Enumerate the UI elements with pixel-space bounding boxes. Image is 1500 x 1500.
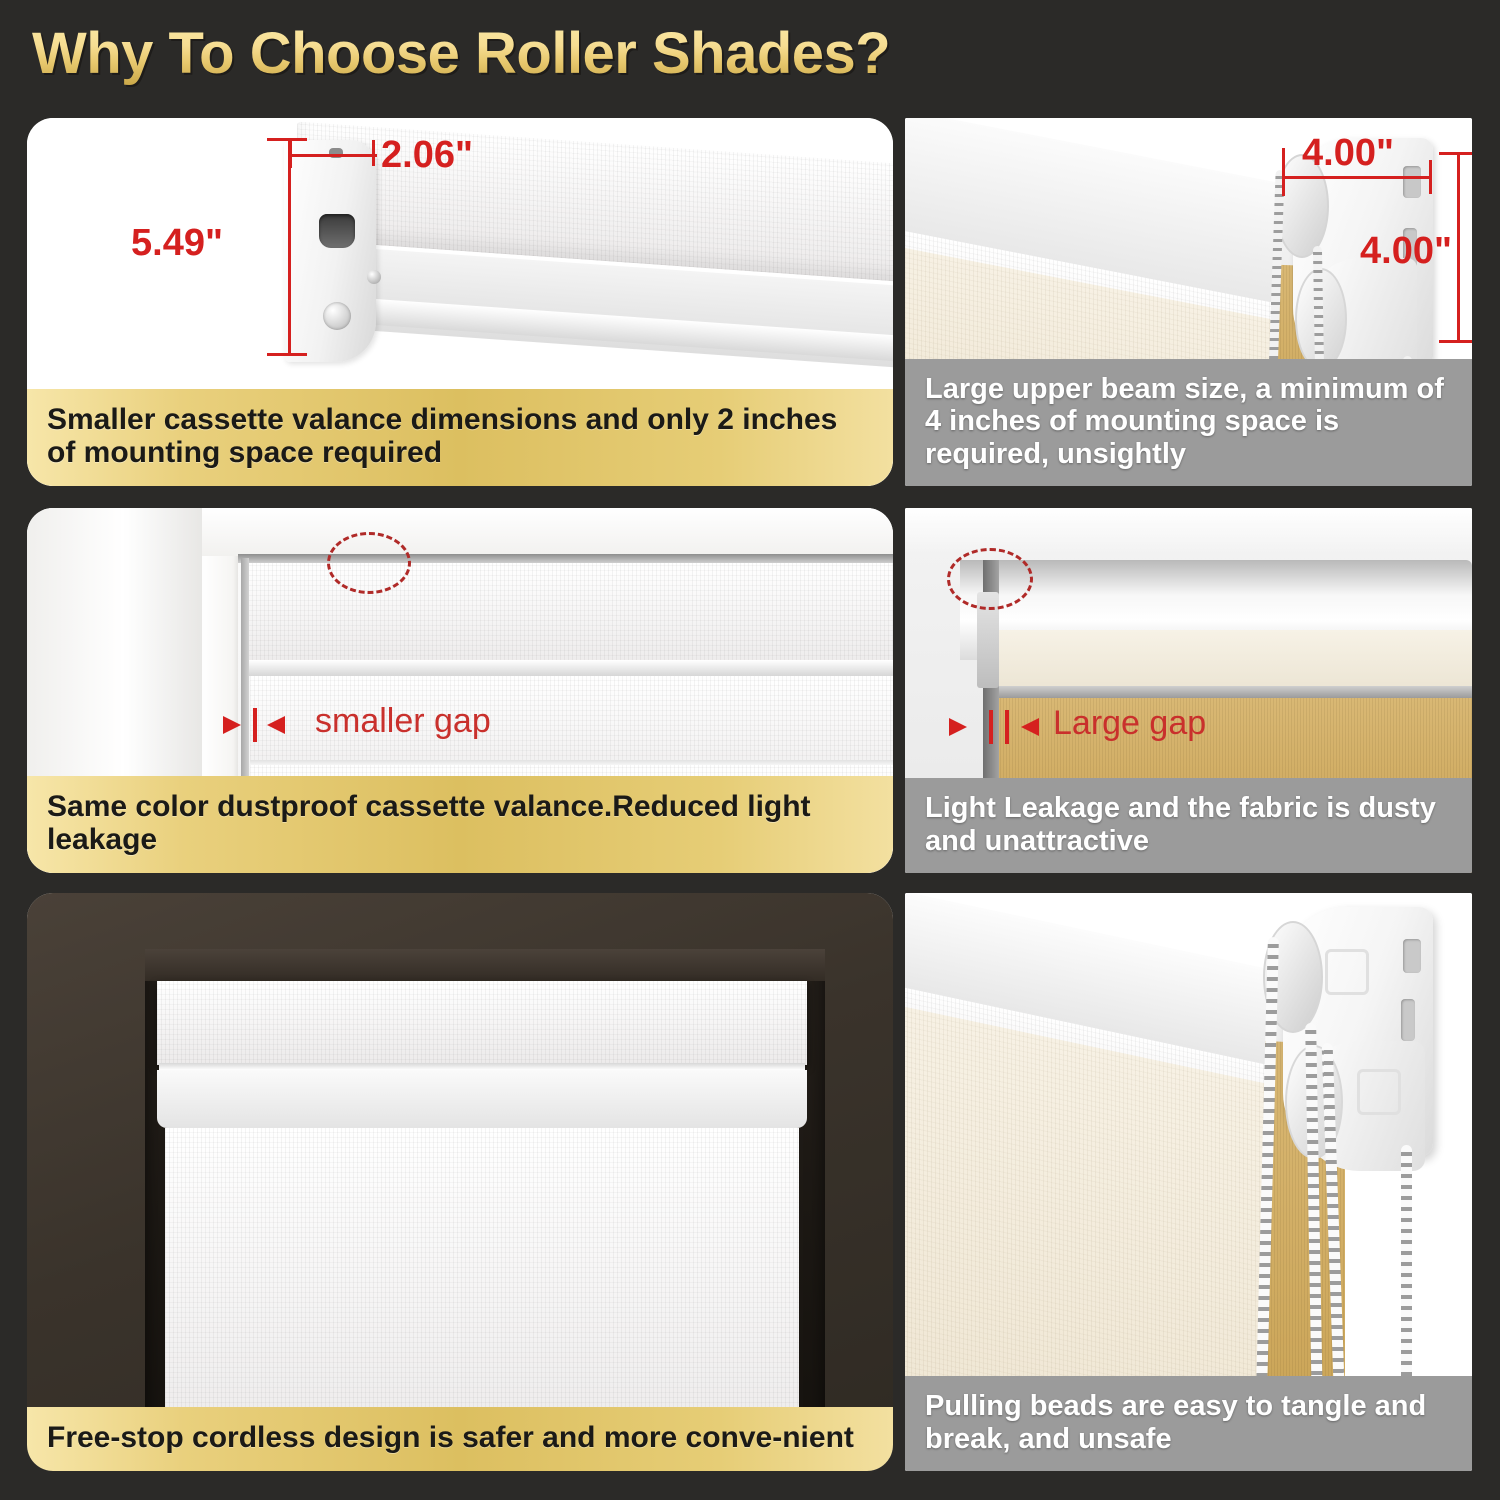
beam-width-extension-right xyxy=(1429,160,1432,194)
bracket-slot-upper xyxy=(1403,166,1421,198)
beam-height-label: 4.00" xyxy=(1360,230,1452,273)
caption-bottom-left: Free-stop cordless design is safer and m… xyxy=(27,1407,893,1471)
caption-middle-right: Light Leakage and the fabric is dusty an… xyxy=(905,778,1472,873)
gap-highlight-ellipse xyxy=(947,548,1033,610)
fabric-metal-rail xyxy=(993,686,1472,698)
panel-middle-right: Large gap Light Leakage and the fabric i… xyxy=(905,508,1472,873)
width-dim-extension-right xyxy=(372,140,375,166)
large-gap-label: Large gap xyxy=(1053,704,1206,743)
gap-marker-bar xyxy=(253,708,257,742)
height-dim-line xyxy=(288,138,291,356)
panel-top-right: 4.00" 4.00" Large upper beam size, a min… xyxy=(905,118,1472,486)
caption-bottom-right: Pulling beads are easy to tangle and bre… xyxy=(905,1376,1472,1471)
panel-bottom-left-image xyxy=(27,893,893,1471)
caption-top-left: Smaller cassette valance dimensions and … xyxy=(27,389,893,486)
caption-top-right: Large upper beam size, a minimum of 4 in… xyxy=(905,359,1472,486)
gap-arrow-left xyxy=(223,716,241,734)
caption-middle-left: Same color dustproof cassette valance.Re… xyxy=(27,776,893,873)
gap-arrow-left xyxy=(949,718,967,736)
beam-height-tick-top xyxy=(1439,152,1472,155)
panel-bottom-right: Pulling beads are easy to tangle and bre… xyxy=(905,893,1472,1471)
page-title: Why To Choose Roller Shades? xyxy=(32,20,890,87)
bracket-logo-lower xyxy=(1357,1069,1401,1115)
panel-bottom-left: Free-stop cordless design is safer and m… xyxy=(27,893,893,1471)
valance-bottom-lip xyxy=(244,660,893,676)
bracket-slot-upper xyxy=(1403,939,1421,973)
end-cap-screw-upper xyxy=(367,270,381,284)
beam-height-line xyxy=(1457,152,1460,342)
end-cap-screw-lower xyxy=(323,302,351,330)
height-dim-tick-top xyxy=(267,138,307,141)
gap-arrow-right xyxy=(1021,718,1039,736)
cream-fabric-band xyxy=(993,630,1472,690)
gap-marker-bar-2 xyxy=(1005,710,1009,744)
beam-height-tick-bottom xyxy=(1439,340,1472,343)
gap-marker-bar-1 xyxy=(989,710,993,744)
gap-highlight-ellipse xyxy=(327,532,411,594)
width-dim-line xyxy=(289,154,377,157)
shade-head-rail xyxy=(157,981,807,1065)
beam-width-line xyxy=(1282,176,1432,179)
window-frame-header xyxy=(202,508,893,556)
bracket-slot-lower xyxy=(1401,999,1415,1041)
window-recess-header xyxy=(145,949,825,981)
height-dimension-label: 5.49" xyxy=(131,222,223,265)
height-dim-tick-bottom xyxy=(267,353,307,356)
bracket-logo-upper xyxy=(1325,949,1369,995)
end-cap-roller-slot xyxy=(319,214,355,248)
gap-arrow-right xyxy=(267,716,285,734)
valance-end-cap xyxy=(284,140,376,362)
beam-width-extension-left xyxy=(1282,148,1285,196)
beam-width-label: 4.00" xyxy=(1302,132,1394,175)
shade-head-rail-groove xyxy=(159,1063,805,1070)
panel-top-left: 2.06" 5.49" Smaller cassette valance dim… xyxy=(27,118,893,486)
shade-valance-tier xyxy=(157,1070,807,1128)
width-dimension-label: 2.06" xyxy=(381,134,473,177)
panel-middle-left: smaller gap Same color dustproof cassett… xyxy=(27,508,893,873)
smaller-gap-label: smaller gap xyxy=(315,702,491,741)
